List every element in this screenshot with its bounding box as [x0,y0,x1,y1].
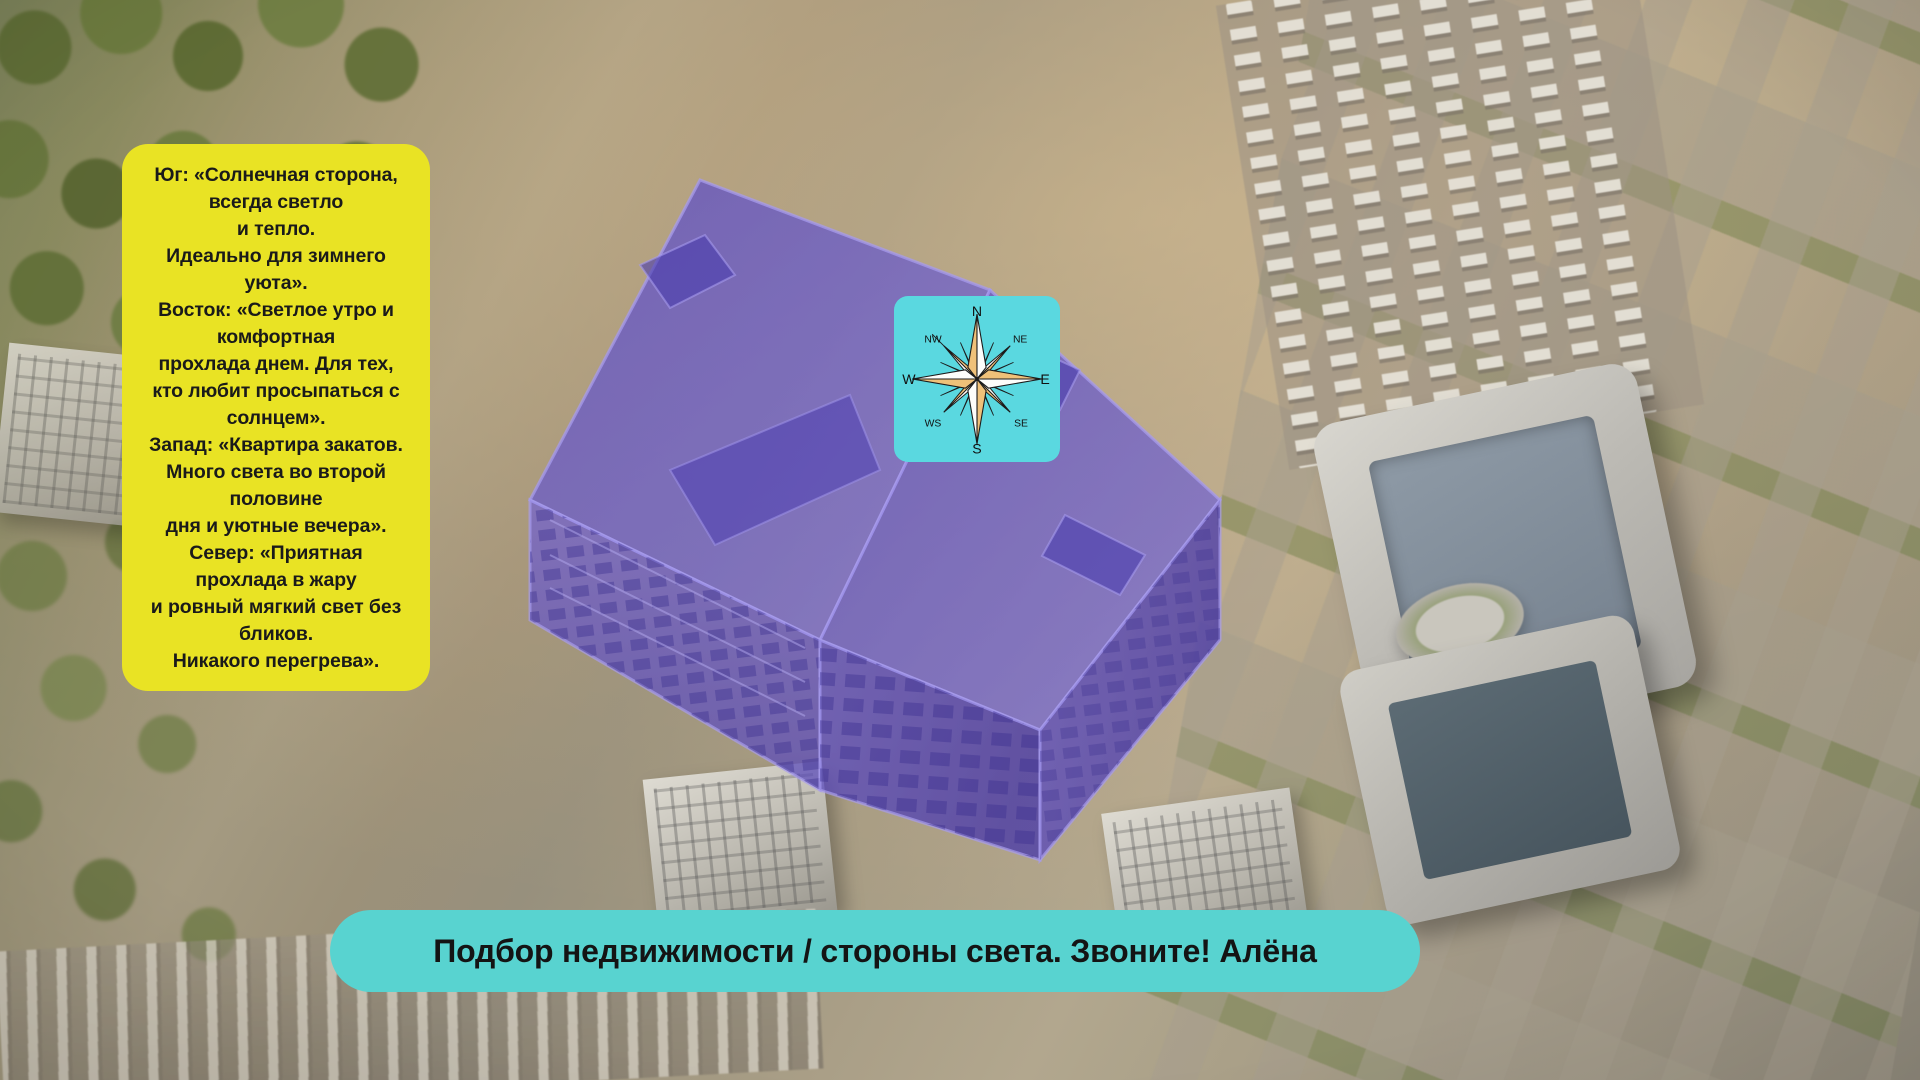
cta-banner-text: Подбор недвижимости / стороны света. Зво… [433,933,1316,970]
advertisement-canvas: Юг: «Солнечная сторона, всегда светло и … [0,0,1920,1080]
info-line-6: комфортная [132,324,420,351]
info-line-15: прохлада в жару [132,567,420,594]
compass-rose-panel: N NE E SE S WS W NW [894,296,1060,462]
info-line-17: бликов. [132,621,420,648]
info-line-12: половине [132,486,420,513]
info-line-5: Восток: «Светлое утро и [132,297,420,324]
highlighted-building-shape [520,170,1260,870]
info-line-14: Север: «Приятная [132,540,420,567]
info-line-1: всегда светло [132,189,420,216]
info-line-0: Юг: «Солнечная сторона, [132,162,420,189]
info-line-9: солнцем». [132,405,420,432]
highlighted-building-overlay [520,170,1260,870]
info-line-13: дня и уютные вечера». [132,513,420,540]
compass-label-se: SE [1014,418,1028,429]
info-line-8: кто любит просыпаться с [132,378,420,405]
info-line-11: Много света во второй [132,459,420,486]
compass-label-e: E [1040,371,1049,387]
info-line-10: Запад: «Квартира закатов. [132,432,420,459]
orientation-info-card: Юг: «Солнечная сторона, всегда светло и … [122,144,430,691]
compass-label-ne: NE [1013,334,1027,345]
compass-label-w: W [902,371,916,387]
compass-label-s: S [972,441,981,457]
compass-label-nw: NW [924,334,941,345]
info-line-18: Никакого перегрева». [132,648,420,675]
compass-label-ws: WS [925,418,942,429]
cta-banner[interactable]: Подбор недвижимости / стороны света. Зво… [330,910,1420,992]
compass-label-n: N [972,303,982,319]
info-line-7: прохлада днем. Для тех, [132,351,420,378]
info-line-2: и тепло. [132,216,420,243]
compass-rose-icon: N NE E SE S WS W NW [894,296,1060,462]
info-line-16: и ровный мягкий свет без [132,594,420,621]
info-line-4: уюта». [132,270,420,297]
info-line-3: Идеально для зимнего [132,243,420,270]
